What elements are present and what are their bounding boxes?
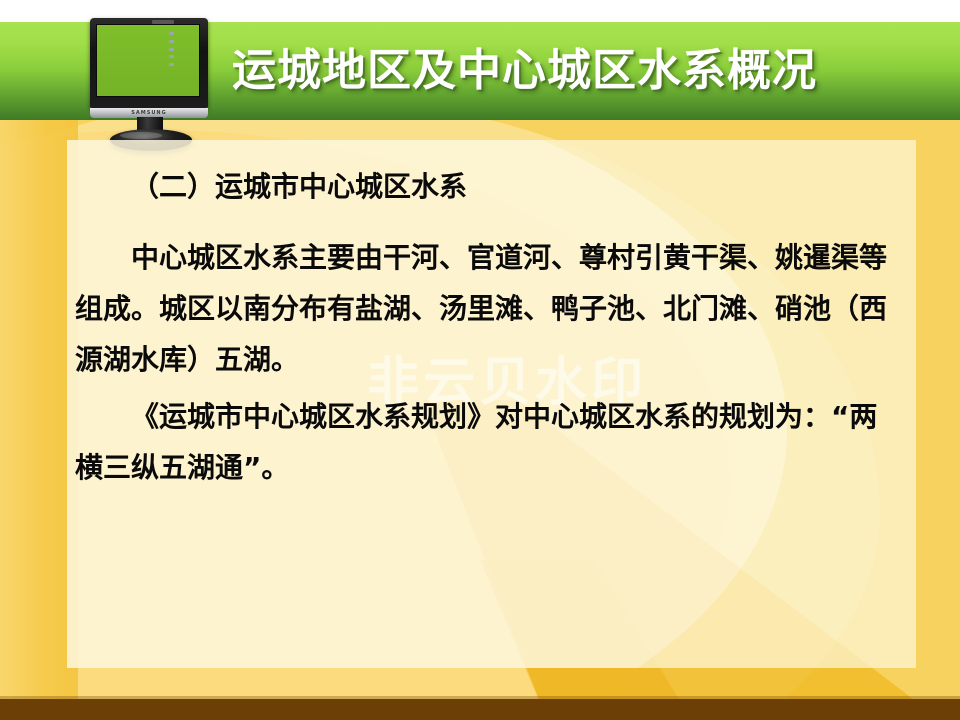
monitor-top-label xyxy=(152,20,174,24)
body-heading: （二）运城市中心城区水系 xyxy=(75,162,896,213)
presentation-slide: 运城地区及中心城区水系概况 SAMSUNG 非云贝水印 （二）运城市中心城区水系… xyxy=(0,0,960,720)
body-paragraph-1: 中心城区水系主要由干河、官道河、尊村引黄干渠、姚暹渠等组成。城区以南分布有盐湖、… xyxy=(75,233,896,386)
bottom-bar xyxy=(0,699,960,720)
slide-title: 运城地区及中心城区水系概况 xyxy=(232,35,932,107)
body-paragraph-2: 《运城市中心城区水系规划》对中心城区水系的规划为：“两横三纵五湖通”。 xyxy=(75,392,896,494)
monitor-icon: SAMSUNG xyxy=(58,16,208,144)
monitor-buttons xyxy=(169,32,174,66)
body-text-block: （二）运城市中心城区水系 中心城区水系主要由干河、官道河、尊村引黄干渠、姚暹渠等… xyxy=(67,140,916,494)
content-card: 非云贝水印 （二）运城市中心城区水系 中心城区水系主要由干河、官道河、尊村引黄干… xyxy=(67,140,916,668)
monitor-screen xyxy=(96,24,200,97)
monitor-base-highlight xyxy=(120,132,162,139)
